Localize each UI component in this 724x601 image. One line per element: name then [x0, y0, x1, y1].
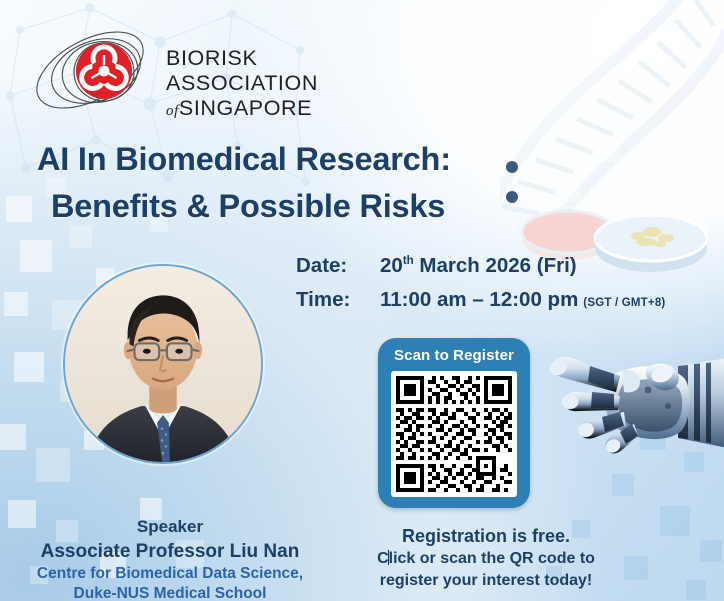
biohazard-orbit-icon	[28, 24, 156, 116]
registration-free-line: Registration is free.	[336, 524, 636, 548]
time-value: 11:00 am – 12:00 pm	[380, 288, 578, 312]
speaker-photo	[63, 264, 263, 464]
date-value: 20th March 2026 (Fri)	[380, 254, 577, 278]
speaker-affiliation-line-1: Centre for Biomedical Data Science,	[0, 564, 340, 585]
poster-canvas: BIORISK ASSOCIATION ofSINGAPORE AI In Bi…	[0, 0, 724, 601]
time-row: Time: 11:00 am – 12:00 pm (SGT / GMT+8)	[296, 288, 665, 312]
speaker-affiliation-line-2: Duke-NUS Medical School	[0, 584, 340, 601]
date-label: Date:	[296, 254, 380, 278]
qr-registration-panel[interactable]: Scan to Register	[378, 338, 530, 508]
organization-logo: BIORISK ASSOCIATION ofSINGAPORE	[24, 18, 344, 118]
event-details: Date: 20th March 2026 (Fri) Time: 11:00 …	[296, 254, 665, 322]
logo-line-1: BIORISK	[166, 46, 318, 71]
speaker-caption: Speaker Associate Professor Liu Nan Cent…	[0, 516, 340, 601]
text-cursor-caret	[388, 550, 389, 565]
registration-line2-rest: lick or scan the QR code to	[389, 550, 595, 567]
robot-hand-icon	[528, 330, 724, 520]
qr-panel-title: Scan to Register	[394, 347, 514, 364]
registration-note: Registration is free. Click or scan the …	[336, 524, 636, 591]
speaker-role-label: Speaker	[0, 516, 340, 539]
headline-line-2: Benefits & Possible Risks	[37, 183, 637, 230]
date-day: 20	[380, 254, 403, 277]
registration-line-3: register your interest today!	[336, 570, 636, 592]
logo-wordmark: BIORISK ASSOCIATION ofSINGAPORE	[166, 46, 318, 121]
date-ordinal: th	[403, 255, 414, 267]
timezone-note: (SGT / GMT+8)	[583, 297, 665, 309]
date-row: Date: 20th March 2026 (Fri)	[296, 254, 665, 278]
speaker-name: Associate Professor Liu Nan	[0, 539, 340, 564]
logo-line-3: ofSINGAPORE	[166, 96, 318, 121]
qr-code[interactable]	[391, 371, 517, 497]
date-rest: March 2026 (Fri)	[419, 254, 576, 277]
qr-code-graphic	[396, 376, 512, 492]
logo-of-word: of	[166, 103, 179, 119]
logo-singapore-word: SINGAPORE	[179, 96, 312, 120]
speaker-portrait-illustration	[65, 266, 261, 462]
logo-line-2: ASSOCIATION	[166, 71, 318, 96]
headline-line-1: AI In Biomedical Research:	[37, 141, 451, 177]
registration-click-line: Click or scan the QR code to	[336, 548, 636, 570]
poster-headline: AI In Biomedical Research: Benefits & Po…	[37, 136, 637, 231]
time-label: Time:	[296, 288, 380, 312]
